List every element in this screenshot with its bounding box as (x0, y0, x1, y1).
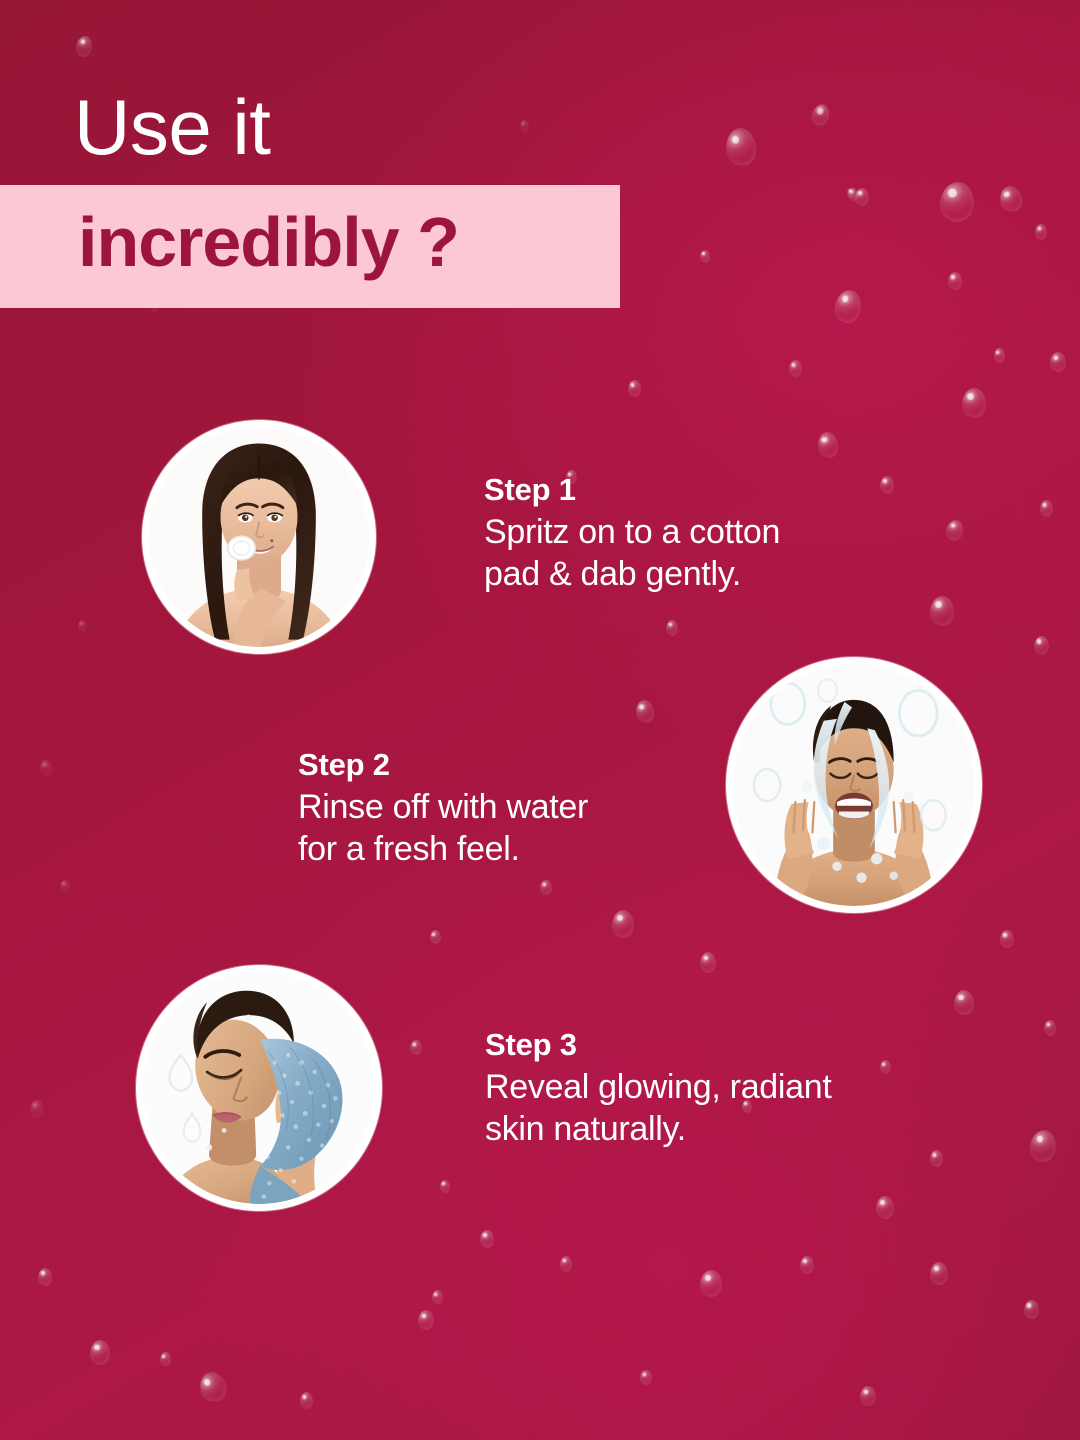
step-2-photo (726, 657, 982, 913)
step-2-title: Step 2 (298, 748, 718, 783)
step-1-description: Spritz on to a cotton pad & dab gently. (484, 511, 914, 595)
step-3-description: Reveal glowing, radiant skin naturally. (485, 1066, 915, 1150)
step-1-photo (142, 420, 376, 654)
step-1-title: Step 1 (484, 473, 914, 508)
step-3-photo (136, 965, 382, 1211)
woman-splashing-water-illustration (733, 664, 975, 906)
step-2-text-block: Step 2 Rinse off with water for a fresh … (298, 748, 718, 870)
woman-drying-face-with-towel-illustration (143, 972, 375, 1204)
woman-applying-cotton-pad-illustration (149, 427, 369, 647)
step-2-description: Rinse off with water for a fresh feel. (298, 786, 718, 870)
headline-line-2: incredibly ? (78, 207, 459, 277)
headline-highlight-band: incredibly ? (0, 185, 620, 308)
headline-line-1: Use it (74, 88, 270, 166)
step-3-title: Step 3 (485, 1028, 915, 1063)
step-1-text-block: Step 1 Spritz on to a cotton pad & dab g… (484, 473, 914, 595)
usage-steps-poster: Use it incredibly ? (0, 0, 1080, 1440)
step-3-text-block: Step 3 Reveal glowing, radiant skin natu… (485, 1028, 915, 1150)
